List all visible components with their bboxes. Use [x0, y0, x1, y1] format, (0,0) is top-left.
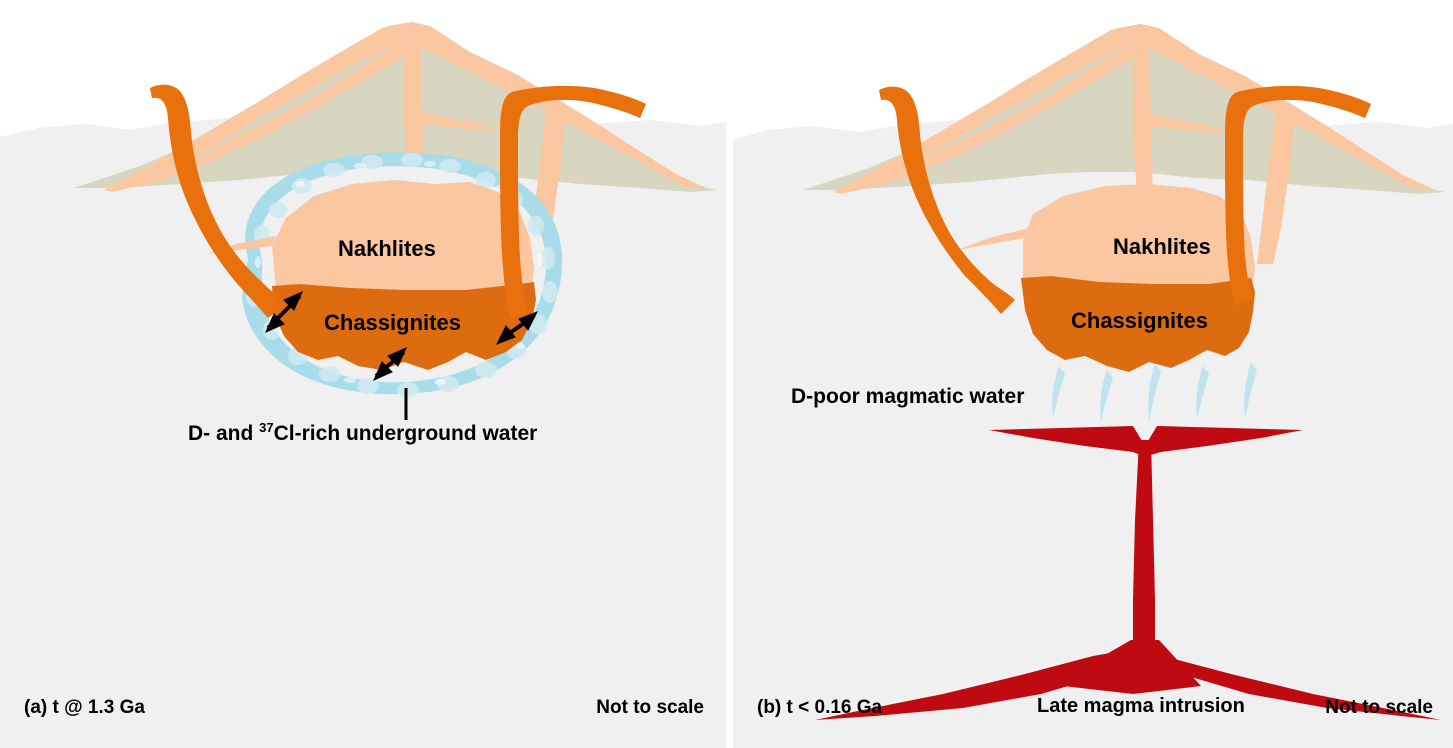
nakhlites-label: Nakhlites: [1113, 234, 1211, 259]
panel-b-scale-note: Not to scale: [1325, 697, 1433, 718]
panel-a-corner-label: (a) t @ 1.3 Ga: [24, 697, 145, 718]
figure-root: Nakhlites Chassignites D- and 37Cl-rich …: [0, 0, 1453, 748]
chassignites-label: Chassignites: [324, 310, 461, 335]
panel-a: Nakhlites Chassignites D- and 37Cl-rich …: [0, 0, 726, 748]
panel-b-corner-label: (b) t < 0.16 Ga: [757, 697, 883, 718]
underground-water-label-sup: 37: [259, 420, 273, 435]
panel-b-canvas: Nakhlites Chassignites D-poor magmatic w…: [733, 0, 1453, 748]
panel-a-canvas: Nakhlites Chassignites D- and 37Cl-rich …: [0, 0, 726, 748]
chassignites-label: Chassignites: [1071, 308, 1208, 333]
underground-water-label-pre: D- and: [188, 422, 259, 445]
panel-a-scale-note: Not to scale: [596, 697, 704, 718]
panel-b: Nakhlites Chassignites D-poor magmatic w…: [733, 0, 1453, 748]
underground-water-label: D- and 37Cl-rich underground water: [188, 420, 537, 445]
underground-water-label-post: Cl-rich underground water: [274, 422, 538, 445]
nakhlites-label: Nakhlites: [338, 236, 436, 261]
magmatic-water-label: D-poor magmatic water: [791, 385, 1024, 408]
magma-intrusion-label: Late magma intrusion: [1037, 695, 1245, 717]
